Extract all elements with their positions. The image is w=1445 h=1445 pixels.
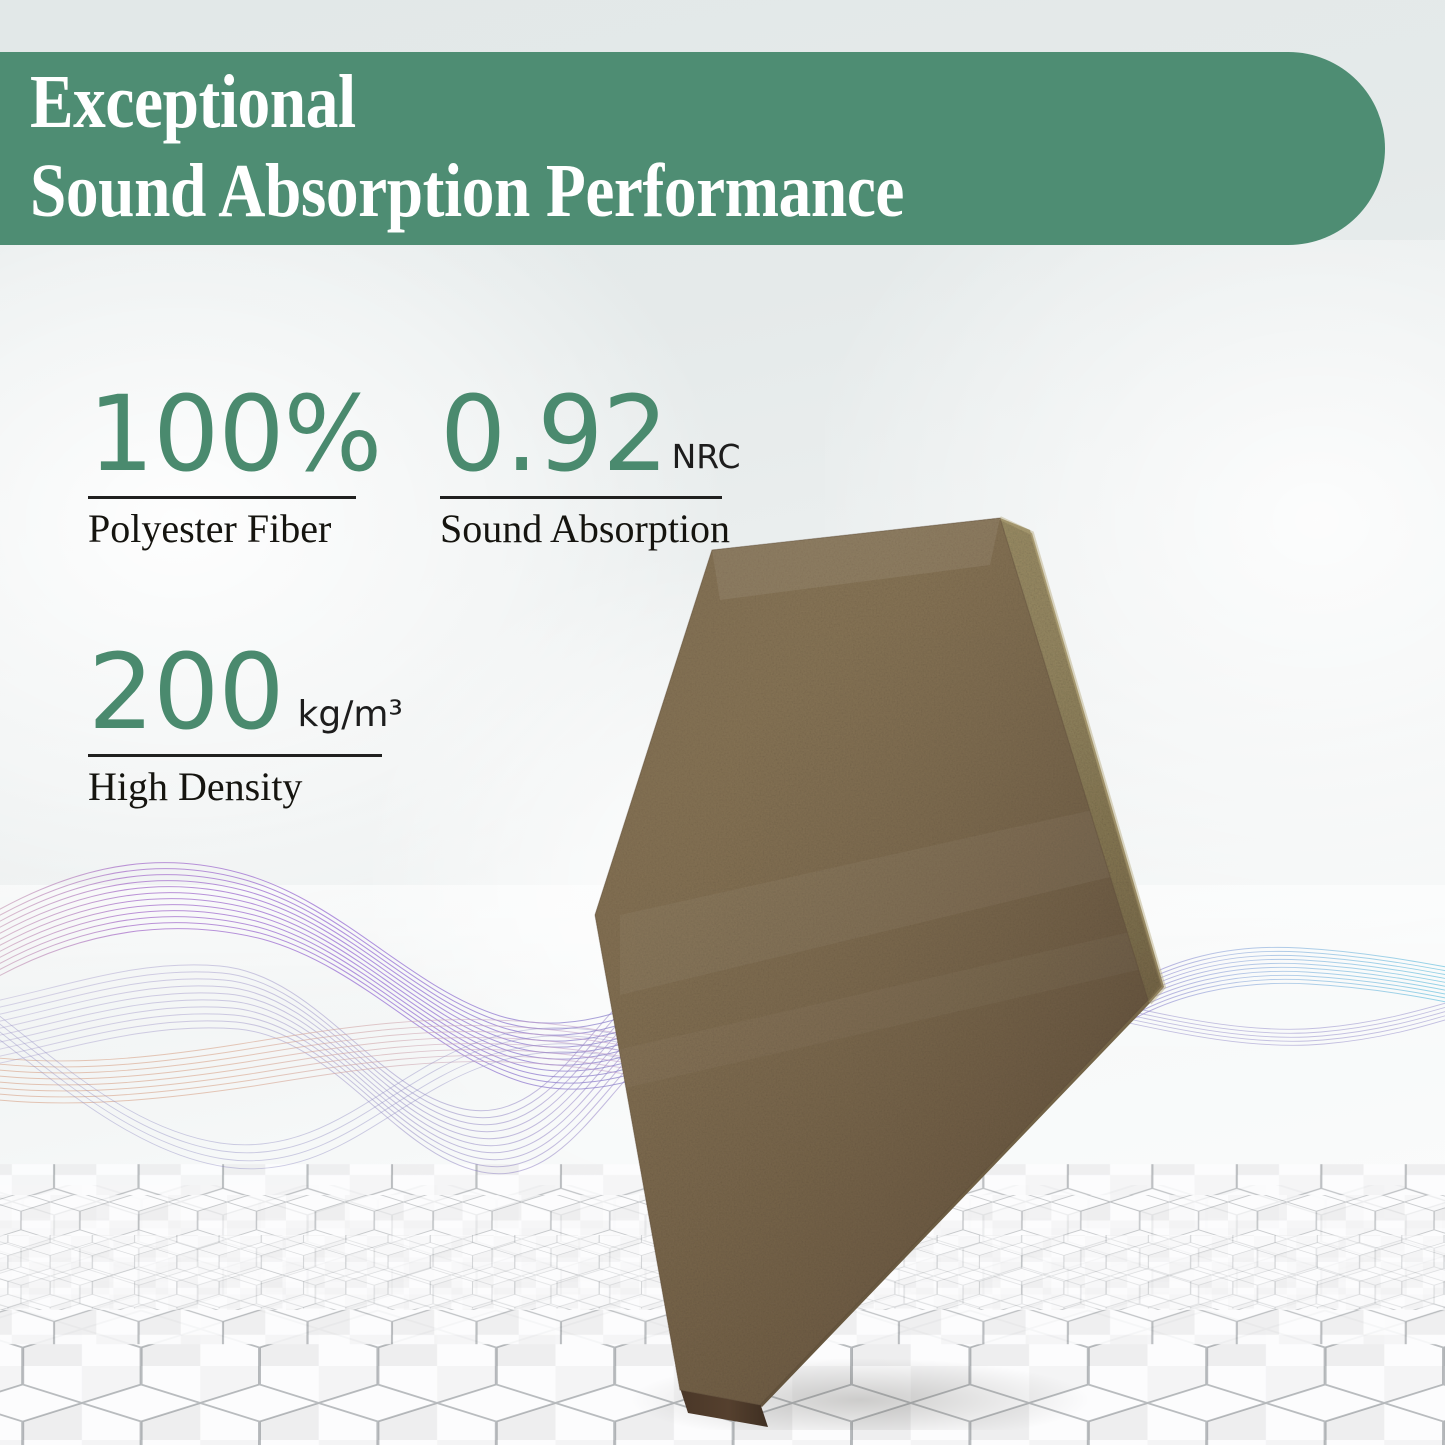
stat-polyester-number: 100% [88, 382, 381, 486]
stat-high-density: 200 kg/m³ High Density [88, 640, 403, 811]
product-feature-poster: Exceptional Sound Absorption Performance… [0, 0, 1445, 1445]
stat-density-unit: kg/m³ [298, 698, 403, 731]
header-banner: Exceptional Sound Absorption Performance [0, 52, 1385, 245]
stat-value-row: 200 kg/m³ [88, 640, 403, 744]
stat-density-label: High Density [88, 763, 403, 811]
stat-nrc-number: 0.92 [440, 382, 668, 486]
stat-nrc-unit: NRC [672, 440, 741, 473]
stat-nrc-rule [440, 496, 722, 499]
background-glow-right [825, 240, 1445, 940]
stat-nrc: 0.92 NRC Sound Absorption [440, 382, 741, 553]
hexagon-floor-pattern [0, 885, 1445, 1445]
stat-polyester-label: Polyester Fiber [88, 505, 381, 553]
stat-value-row: 100% [88, 382, 381, 486]
stat-density-rule [88, 754, 382, 757]
banner-title-line1: Exceptional [30, 58, 904, 147]
stat-value-row: 0.92 NRC [440, 382, 741, 486]
banner-title-line2: Sound Absorption Performance [30, 147, 904, 236]
stat-polyester-fiber: 100% Polyester Fiber [88, 382, 381, 553]
background-glow-left [0, 180, 720, 940]
stat-density-number: 200 [88, 640, 284, 744]
stat-polyester-rule [88, 496, 356, 499]
stat-nrc-label: Sound Absorption [440, 505, 741, 553]
banner-title: Exceptional Sound Absorption Performance [30, 58, 904, 236]
